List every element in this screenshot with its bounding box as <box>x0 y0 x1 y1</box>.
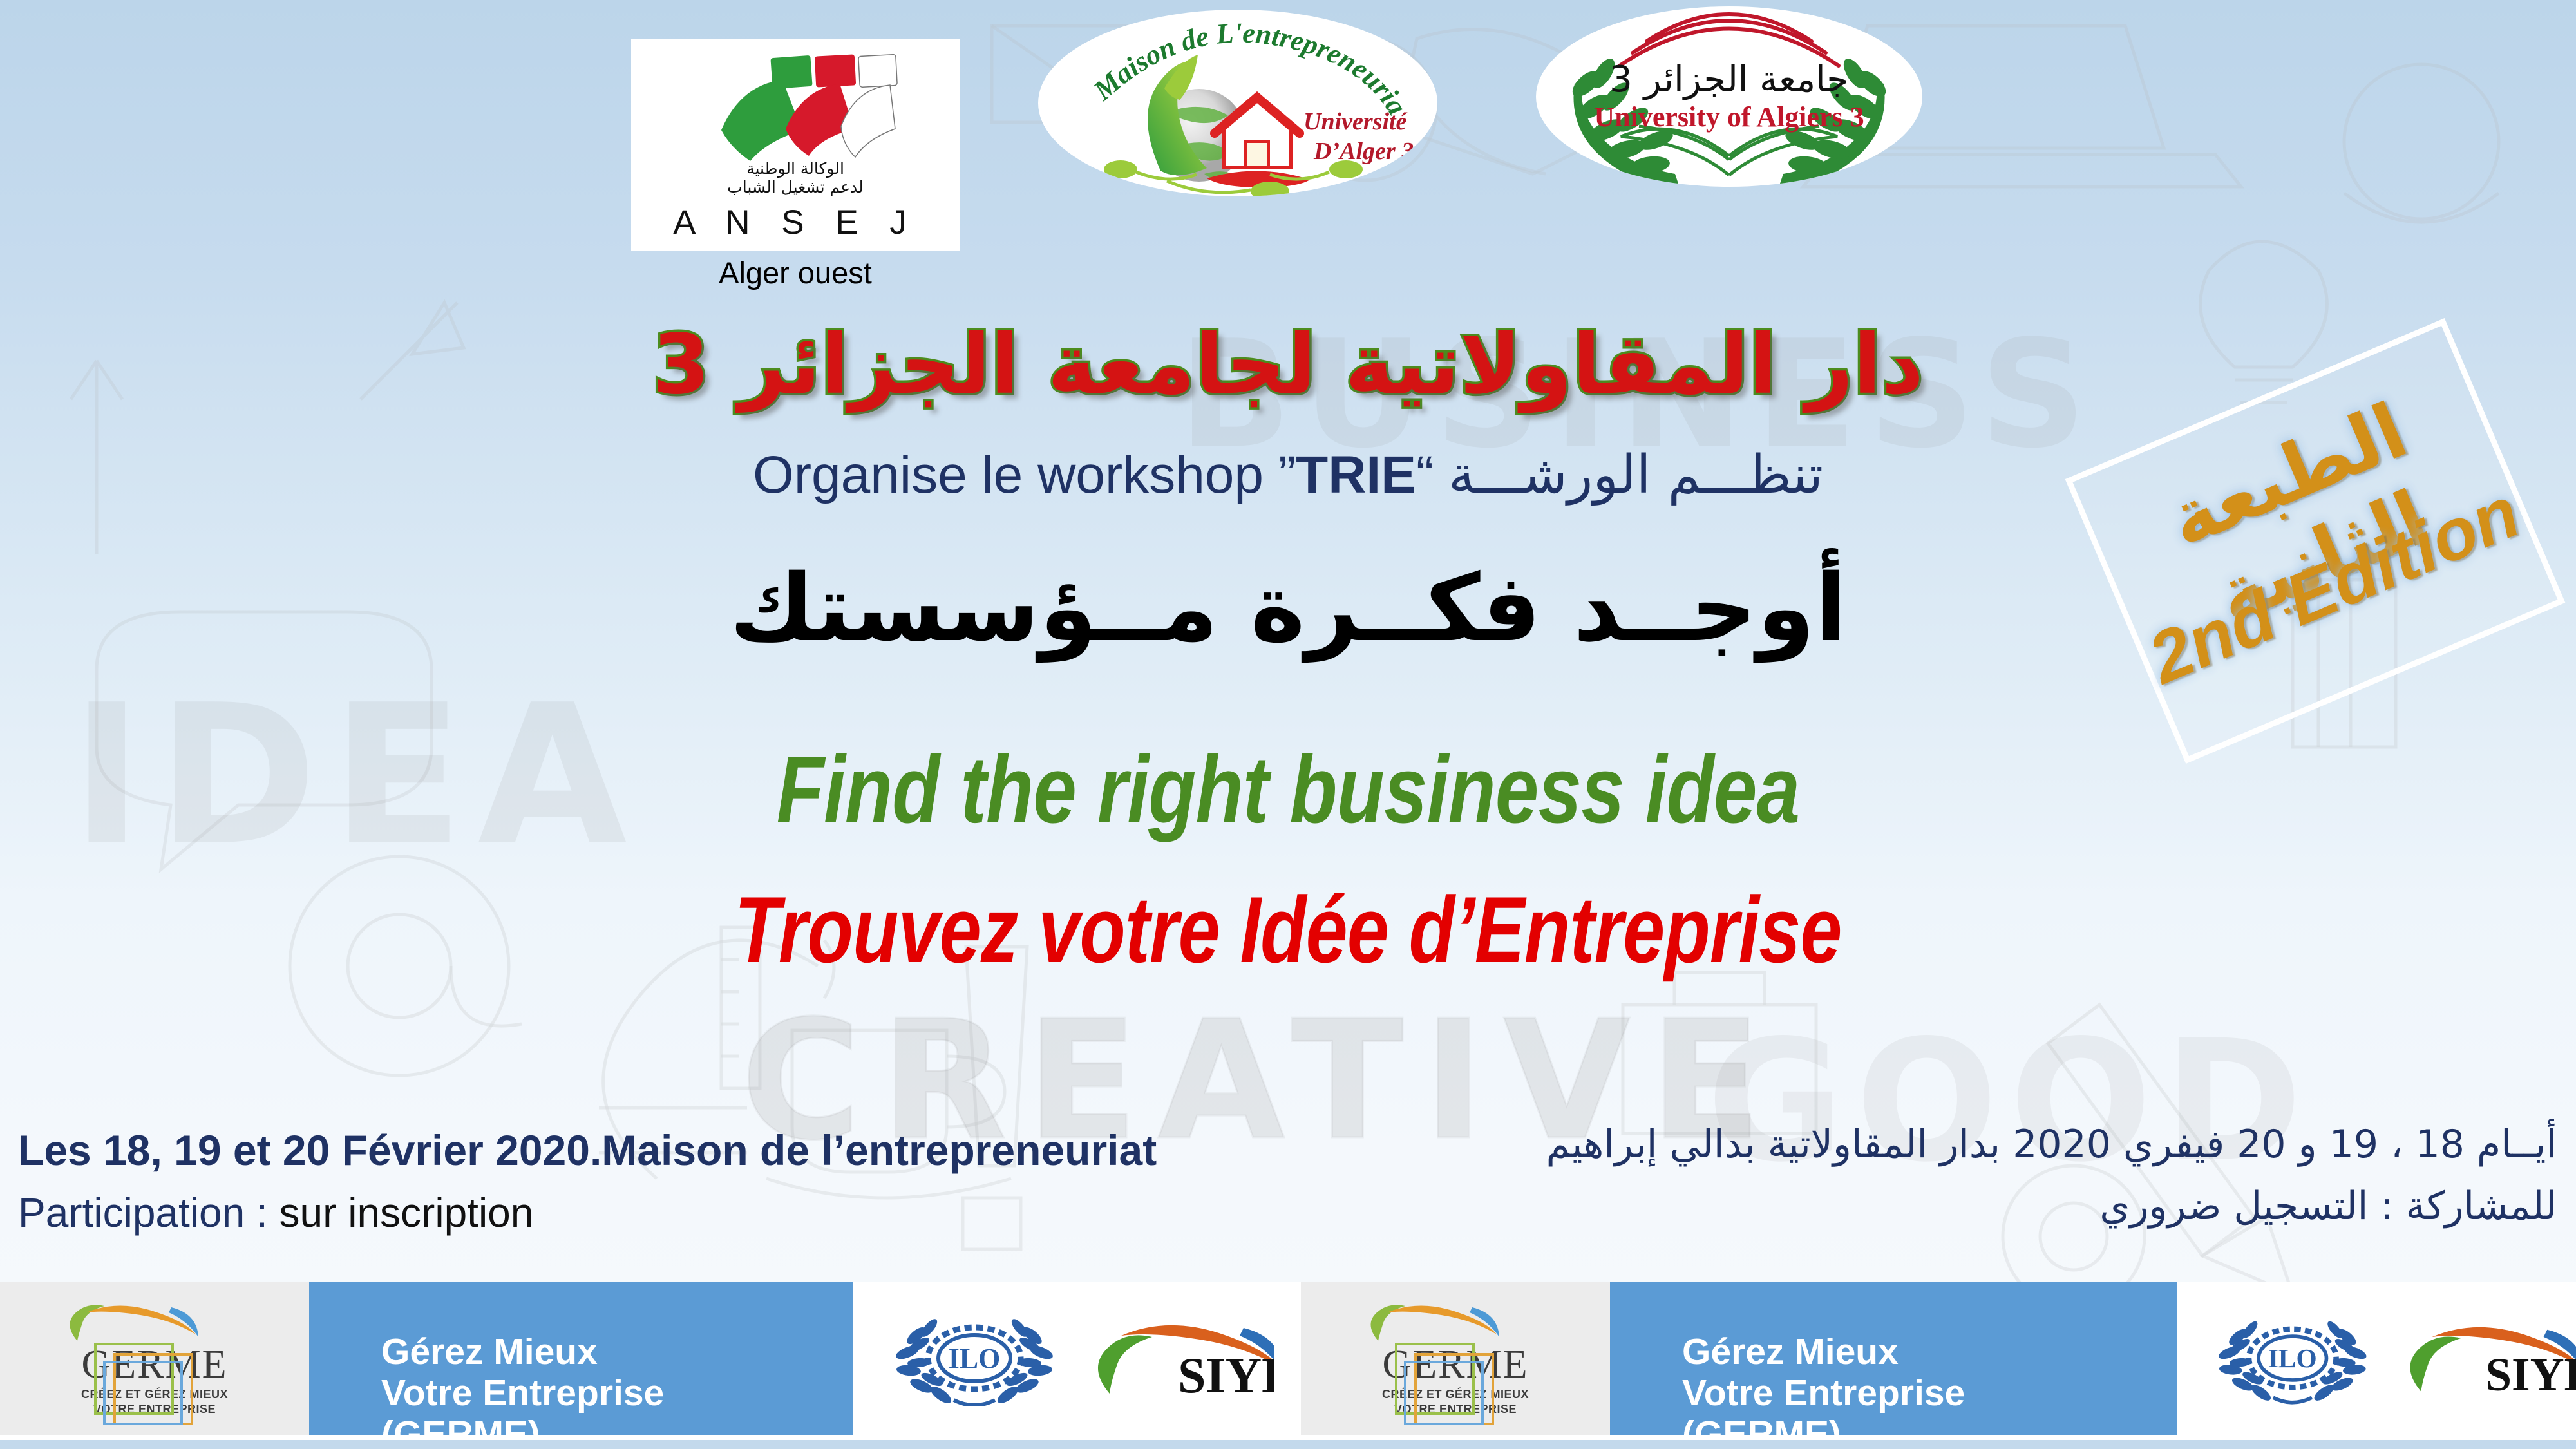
participation-value-fr: sur inscription <box>279 1189 534 1236</box>
germe-blue-panel: Gérez Mieux Votre Entreprise (GERME) <box>309 1282 853 1435</box>
footer-partner-strip: GERME Créez et gérez mieux votre entrepr… <box>0 1282 2576 1449</box>
germe-blue-line3: (GERME) <box>381 1414 540 1435</box>
maison-subtitle-1: Université <box>1303 108 1408 135</box>
organizer-title-arabic: دار المقاولاتية لجامعة الجزائر 3 <box>0 317 2576 413</box>
germe-swoosh-icon <box>58 1303 251 1343</box>
university-logo-art: جامعة الجزائر 3 University of Algiers 3 <box>1536 6 1922 187</box>
subtitle-ar-text: تنظـــم الورشـــة <box>1448 444 1823 506</box>
germe-squares-icon <box>90 1340 219 1427</box>
event-poster: CREATIVE IDEA BUSINESS GOOD الوكالة الوط… <box>0 0 2576 1449</box>
germe-logo-panel: GERME Créez et gérez mieux votre entrepr… <box>1301 1282 1610 1435</box>
event-dates-arabic: أيــام 18 ، 19 و 20 فيفري 2020 بدار المق… <box>1546 1122 2557 1167</box>
svg-text:ILO: ILO <box>2268 1343 2317 1373</box>
ansej-arabic-line2: لدعم تشغيل الشباب <box>631 178 960 197</box>
ilo-siyb-panel: ILO <box>2177 1282 2576 1435</box>
germe-blue-line2: Votre Entreprise <box>381 1372 664 1414</box>
info-block-french: Les 18, 19 et 20 Février 2020.Maison de … <box>18 1126 1157 1236</box>
headline-english: Find the right business idea <box>232 735 2344 845</box>
participation-arabic: للمشاركة : التسجيل ضروري <box>1546 1184 2557 1229</box>
germe-blue-line1: Gérez Mieux <box>1682 1331 1899 1372</box>
svg-text:ILO: ILO <box>949 1343 1001 1374</box>
subtitle-trie: TRIE <box>1296 446 1416 504</box>
maison-oval: Maison de L'entrepreneuriat <box>1038 10 1437 196</box>
germe-squares-icon <box>1391 1340 1520 1427</box>
ansej-flag-mark <box>689 54 902 164</box>
event-dates-french: Les 18, 19 et 20 Février 2020.Maison de … <box>18 1126 1157 1175</box>
headline-french: Trouvez votre Idée d’Entreprise <box>258 876 2318 984</box>
participation-label-fr: Participation : <box>18 1189 268 1236</box>
subtitle-fr-text: Organise le workshop <box>753 446 1264 504</box>
ansej-arabic-line1: الوكالة الوطنية <box>631 160 960 178</box>
germe-logo-panel: GERME Créez et gérez mieux votre entrepr… <box>0 1282 309 1435</box>
ansej-branch-label: Alger ouest <box>631 255 960 290</box>
maison-logo-art: Maison de L'entrepreneuriat <box>1038 10 1437 196</box>
germe-blue-line2: Votre Entreprise <box>1682 1372 1965 1414</box>
germe-blue-panel: Gérez Mieux Votre Entreprise (GERME) <box>1610 1282 2177 1435</box>
siyb-wordmark: SIYB <box>1178 1347 1274 1400</box>
siyb-icon: SIYB <box>1081 1316 1274 1400</box>
siyb-icon: SIYB <box>2394 1316 2576 1400</box>
ilo-siyb-panel: ILO <box>853 1282 1298 1435</box>
siyb-wordmark: SIYB <box>2485 1349 2576 1400</box>
germe-blue-text: Gérez Mieux Votre Entreprise (GERME) <box>381 1332 664 1435</box>
university-oval: جامعة الجزائر 3 University of Algiers 3 <box>1536 6 1922 187</box>
germe-blue-line3: (GERME) <box>1682 1414 1841 1435</box>
university-algiers-logo: جامعة الجزائر 3 University of Algiers 3 <box>1536 6 1922 187</box>
info-block-arabic: أيــام 18 ، 19 و 20 فيفري 2020 بدار المق… <box>1546 1122 2557 1229</box>
ansej-logo: الوكالة الوطنية لدعم تشغيل الشباب A N S … <box>631 39 960 290</box>
germe-blue-text: Gérez Mieux Votre Entreprise (GERME) <box>1682 1332 1965 1435</box>
footer-bottom-rule <box>0 1440 2576 1449</box>
germe-blue-line1: Gérez Mieux <box>381 1331 598 1372</box>
logo-row: الوكالة الوطنية لدعم تشغيل الشباب A N S … <box>0 0 2576 296</box>
ansej-arabic: الوكالة الوطنية لدعم تشغيل الشباب <box>631 160 960 197</box>
subtitle-quote-close: “ <box>1416 446 1434 504</box>
partner-banner: GERME Créez et gérez mieux votre entrepr… <box>1301 1282 2576 1435</box>
ansej-acronym: A N S E J <box>631 203 960 242</box>
participation-french: Participation : sur inscription <box>18 1189 1157 1236</box>
ilo-icon: ILO <box>884 1310 1065 1406</box>
ansej-card: الوكالة الوطنية لدعم تشغيل الشباب A N S … <box>631 39 960 251</box>
university-arabic: جامعة الجزائر 3 <box>1609 59 1849 100</box>
partner-banner: GERME Créez et gérez mieux votre entrepr… <box>0 1282 1298 1435</box>
maison-entrepreneuriat-logo: Maison de L'entrepreneuriat <box>1038 10 1437 196</box>
maison-subtitle-2: D’Alger 3 <box>1313 138 1414 165</box>
germe-swoosh-icon <box>1359 1303 1552 1343</box>
university-english: University of Algiers 3 <box>1594 101 1864 133</box>
subtitle-quote-open: ” <box>1278 446 1296 504</box>
ilo-icon: ILO <box>2208 1310 2378 1406</box>
